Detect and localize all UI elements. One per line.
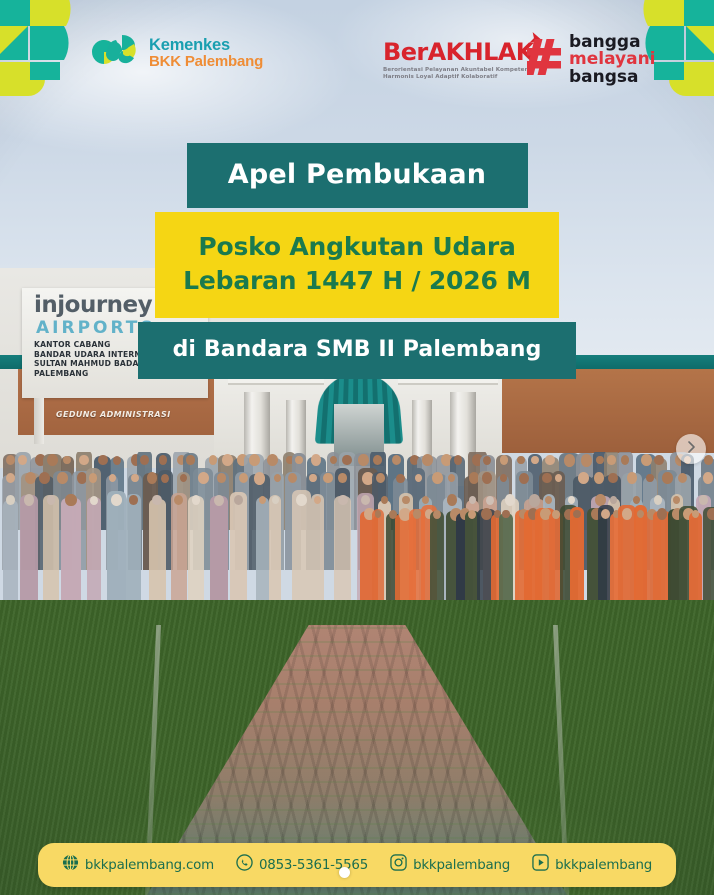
kemenkes-logo-text: Kemenkes BKK Palembang [149,37,263,71]
globe-icon [62,854,79,876]
footer-instagram-label: bkkpalembang [413,858,510,873]
building-label: GEDUNG ADMINISTRASI [56,410,171,419]
crowd-person-head [6,473,15,483]
logo-row: Kemenkes BKK Palembang BerAKHLAK ➤ Beror… [0,28,714,90]
signboard-post [34,398,44,444]
crowd-person-head [47,495,56,505]
crowd-person-head [140,455,149,465]
crowd-person-head [330,456,337,464]
crowd-person-head [500,474,507,482]
berakhlak-tagline: Berorientasi Pelayanan Akuntabel Kompete… [383,67,534,81]
mouse-cursor [339,867,350,878]
chevron-right-icon [684,440,698,459]
crowd-person-head [396,474,404,483]
crowd-person-head [564,454,575,467]
crowd-person-head [376,473,385,483]
kemenkes-logo: Kemenkes BKK Palembang [104,32,263,75]
crowd-person-head [186,455,194,464]
title-posko-line-2: Lebaran 1447 H / 2026 M [165,264,549,298]
crowd-person-head [578,472,589,484]
berakhlak-wordmark: BerAKHLAK ➤ [383,38,534,66]
crowd-person-head [338,473,346,482]
crowd-person-head [581,454,592,467]
footer-website-label: bkkpalembang.com [85,858,214,873]
title-lokasi: di Bandara SMB II Palembang [173,337,542,362]
crowd-person-head [519,473,529,484]
crowd-person-head [63,456,70,464]
crowd-person-head [573,510,581,518]
berakhlak-tagline-line-1: Berorientasi Pelayanan Akuntabel Kompete… [383,67,534,74]
crowd-person-head [657,508,667,520]
youtube-icon [532,854,549,876]
berakhlak-word: BerAKHLAK [383,38,534,66]
crowd-person-head [621,455,630,465]
bangga-line-3: bangsa [569,69,656,86]
crowd-person-head [198,472,209,484]
crowd-person-head [296,494,306,506]
crowd-person-head [392,455,401,465]
crowd-person-head [596,456,604,465]
title-stack: Apel Pembukaan Posko Angkutan Udara Leba… [0,143,714,379]
footer-item-website[interactable]: bkkpalembang.com [62,854,214,876]
footer-item-youtube[interactable]: bkkpalembang [532,854,652,876]
crowd-person-head [254,472,266,485]
hashtag-icon [527,37,561,82]
crowd-person-head [641,454,652,466]
footer-youtube-label: bkkpalembang [555,858,652,873]
kemenkes-subtitle: BKK Palembang [149,54,263,70]
crowd-person-head [267,454,278,466]
crowd-person-head [654,455,663,465]
crowd-person-head [413,509,422,519]
crowd-person-head [79,455,88,466]
crowd-person-head [608,473,618,484]
crowd-person-head [217,473,226,483]
crowd-person-head [662,472,672,484]
bangga-logo-text: bangga melayani bangsa [569,34,656,86]
crowd-person-head [6,495,15,505]
crowd-person-head [24,494,34,505]
crowd-person-head [109,474,116,482]
whatsapp-icon [236,854,253,876]
title-posko-line-1: Posko Angkutan Udara [165,230,549,264]
crowd-person-head [272,496,279,504]
crowd-person-head [594,472,604,483]
crowd-person-head [323,473,332,483]
crowd-person-head [483,456,491,465]
instagram-icon [390,854,407,876]
footer-item-instagram[interactable]: bkkpalembang [390,854,510,876]
crowd-person-head [448,474,455,482]
crowd-person-head [433,510,441,519]
crowd-person-head [704,455,713,465]
crowd-person-head [545,455,554,466]
title-apel-pembukaan: Apel Pembukaan [228,159,486,190]
crowd-person-head [161,474,169,483]
crowd-person-head [622,508,632,519]
crowd-person-head [633,496,640,504]
contact-footer-bar: bkkpalembang.com 0853-5361-5565 bkkpalem… [38,843,676,887]
crowd-person-head [358,454,368,466]
berakhlak-tagline-line-2: Harmonis Loyal Adaptif Kolaboratif [383,74,534,81]
crowd-person-head [65,494,76,507]
carousel-next-button[interactable] [676,434,706,464]
crowd-person-head [673,496,680,504]
crowd-person-head [542,473,551,484]
crowd-person-head [517,456,524,464]
crowd-person-head [89,473,97,482]
crowd-person-head [607,455,615,464]
kemenkes-title: Kemenkes [149,37,263,55]
crowd-person-head [529,494,541,507]
crowd-person-head [98,455,108,466]
title-block-location: di Bandara SMB II Palembang [138,322,576,379]
crowd-person-head [486,496,494,505]
crowd-person-head [699,495,707,504]
kemenkes-flower-icon [104,32,140,75]
crowd-person-head [147,472,157,483]
crowd-person-head [249,454,260,466]
berakhlak-logo: BerAKHLAK ➤ Berorientasi Pelayanan Akunt… [383,38,534,81]
crowd-person-head [90,496,98,505]
bangga-melayani-bangsa-logo: bangga melayani bangsa [527,34,656,86]
crowd-person-head [113,456,121,465]
crowd-person-head [703,472,713,483]
crowd-person-head [610,496,617,504]
crowd-person-head [707,508,714,520]
crowd-person-head [552,510,560,519]
footer-whatsapp-label: 0853-5361-5565 [259,858,368,873]
crowd-person-head [505,494,515,505]
crowd-person-head [57,472,67,484]
crowd-person-head [454,455,462,464]
crowd-person-head [468,510,476,519]
crowd-person-head [654,495,662,504]
background-photo: injourney AIRPORTS KANTOR CABANG BANDAR … [0,0,714,895]
crowd-person-head [111,494,122,506]
title-block-highlight: Posko Angkutan Udara Lebaran 1447 H / 20… [155,212,559,318]
title-block-primary: Apel Pembukaan [187,143,528,208]
crowd-person-head [338,495,347,506]
poster-slide: injourney AIRPORTS KANTOR CABANG BANDAR … [0,0,714,895]
crowd-person-head [214,495,224,506]
crowd-person-head [129,495,138,505]
crowd-person-head [432,472,443,484]
